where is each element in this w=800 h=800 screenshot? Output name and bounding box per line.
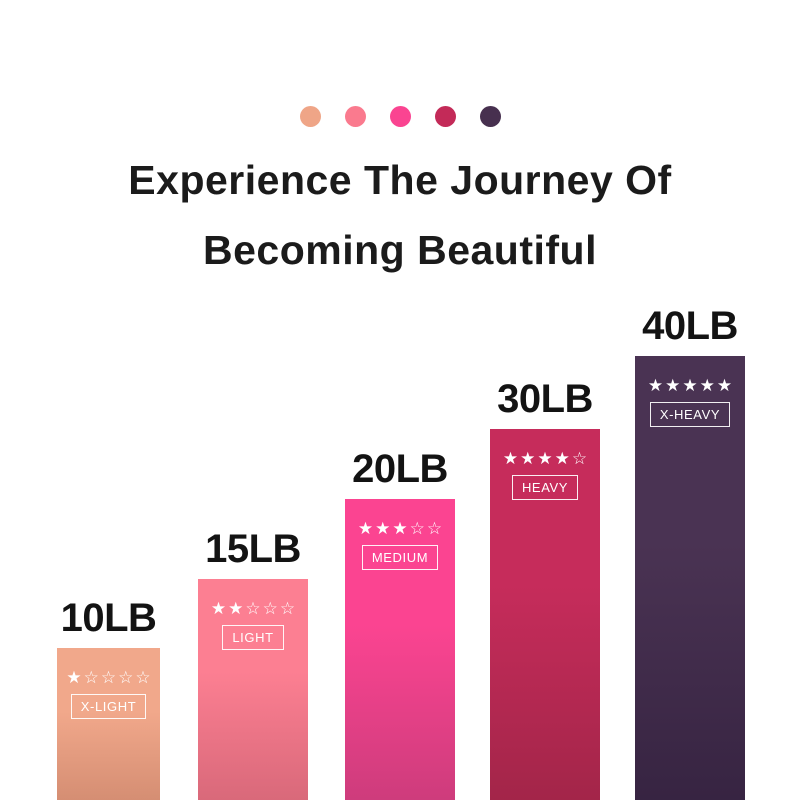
star-filled-icon: ★: [392, 521, 407, 538]
resistance-level-badge: X-LIGHT: [71, 694, 146, 719]
resistance-level-badge: HEAVY: [512, 475, 578, 500]
star-filled-icon: ★: [700, 378, 715, 395]
star-empty-icon: ☆: [245, 601, 260, 618]
star-rating: ★☆☆☆☆: [66, 670, 150, 687]
bar-column[interactable]: ★★★☆☆MEDIUM: [345, 499, 455, 800]
star-filled-icon: ★: [375, 521, 390, 538]
bar-group[interactable]: 10LB★☆☆☆☆X-LIGHT: [57, 588, 160, 800]
bar-value-label: 15LB: [205, 527, 301, 571]
star-filled-icon: ★: [358, 521, 373, 538]
bar-group[interactable]: 30LB★★★★☆HEAVY: [490, 369, 600, 800]
star-empty-icon: ☆: [263, 601, 278, 618]
bar-value-label: 20LB: [352, 447, 448, 491]
resistance-level-bar-chart: 10LB★☆☆☆☆X-LIGHT15LB★★☆☆☆LIGHT20LB★★★☆☆M…: [0, 0, 800, 800]
star-rating: ★★★★★: [648, 378, 732, 395]
star-filled-icon: ★: [717, 378, 732, 395]
star-empty-icon: ☆: [84, 670, 99, 687]
bar-column[interactable]: ★★★★☆HEAVY: [490, 429, 600, 800]
star-filled-icon: ★: [665, 378, 680, 395]
bar-column[interactable]: ★☆☆☆☆X-LIGHT: [57, 648, 160, 800]
star-rating: ★★☆☆☆: [211, 601, 295, 618]
star-empty-icon: ☆: [572, 451, 587, 468]
bar-column[interactable]: ★★★★★X-HEAVY: [635, 356, 745, 800]
star-filled-icon: ★: [520, 451, 535, 468]
bar-content: ★☆☆☆☆X-LIGHT: [57, 670, 160, 719]
bar-group[interactable]: 40LB★★★★★X-HEAVY: [635, 296, 745, 800]
bar-value-label: 30LB: [497, 377, 593, 421]
star-empty-icon: ☆: [101, 670, 116, 687]
resistance-band-infographic: Experience The Journey Of Becoming Beaut…: [0, 0, 800, 800]
resistance-level-badge: LIGHT: [222, 625, 283, 650]
star-rating: ★★★☆☆: [358, 521, 442, 538]
bar-value-label: 40LB: [642, 304, 738, 348]
star-filled-icon: ★: [211, 601, 226, 618]
star-filled-icon: ★: [555, 451, 570, 468]
star-filled-icon: ★: [537, 451, 552, 468]
bar-content: ★★★★☆HEAVY: [490, 451, 600, 500]
star-rating: ★★★★☆: [503, 451, 587, 468]
bar-content: ★★★☆☆MEDIUM: [345, 521, 455, 570]
bar-content: ★★☆☆☆LIGHT: [198, 601, 308, 650]
star-filled-icon: ★: [682, 378, 697, 395]
star-filled-icon: ★: [66, 670, 81, 687]
bar-content: ★★★★★X-HEAVY: [635, 378, 745, 427]
bar-group[interactable]: 20LB★★★☆☆MEDIUM: [345, 439, 455, 800]
bar-group[interactable]: 15LB★★☆☆☆LIGHT: [198, 519, 308, 800]
star-empty-icon: ☆: [135, 670, 150, 687]
star-empty-icon: ☆: [280, 601, 295, 618]
resistance-level-badge: X-HEAVY: [650, 402, 730, 427]
bar-value-label: 10LB: [61, 596, 157, 640]
star-filled-icon: ★: [503, 451, 518, 468]
star-empty-icon: ☆: [427, 521, 442, 538]
bar-column[interactable]: ★★☆☆☆LIGHT: [198, 579, 308, 800]
star-filled-icon: ★: [228, 601, 243, 618]
star-empty-icon: ☆: [410, 521, 425, 538]
resistance-level-badge: MEDIUM: [362, 545, 438, 570]
star-empty-icon: ☆: [118, 670, 133, 687]
star-filled-icon: ★: [648, 378, 663, 395]
